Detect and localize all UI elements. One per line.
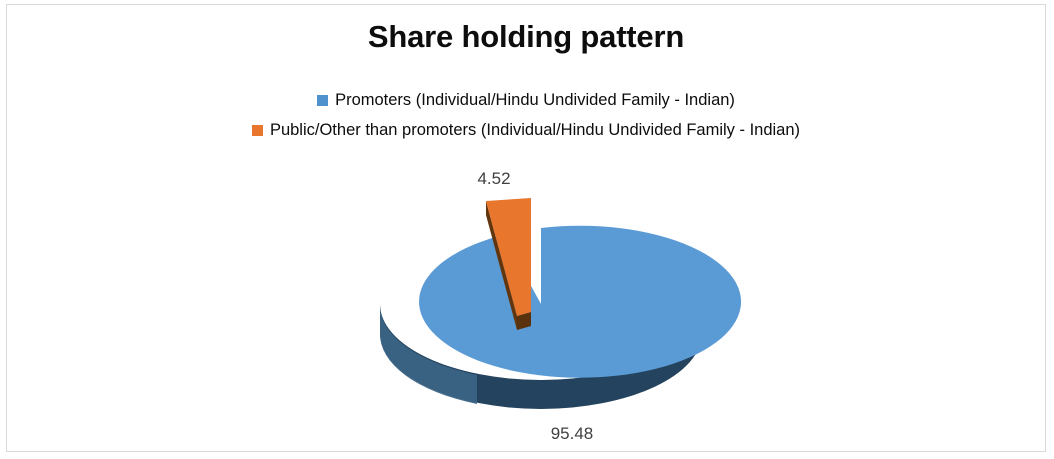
- pie-slice-promoters-top: [419, 226, 741, 378]
- chart-container: Share holding pattern Promoters (Individ…: [6, 4, 1046, 452]
- data-label-public-other: 4.52: [459, 169, 529, 189]
- pie-chart-plot-area: 4.52 95.48: [7, 5, 1047, 453]
- data-label-promoters: 95.48: [532, 424, 612, 444]
- pie-chart-svg: [7, 5, 1047, 453]
